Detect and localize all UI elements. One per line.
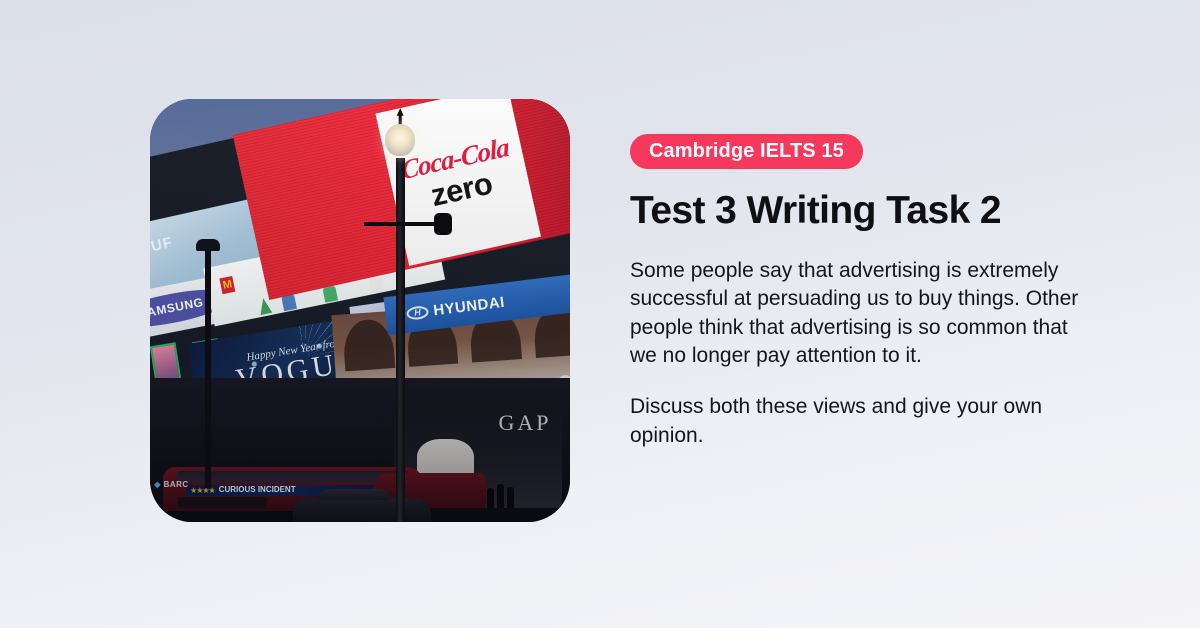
text-column: Cambridge IELTS 15 Test 3 Writing Task 2… bbox=[630, 134, 1100, 450]
mcdonalds-icon: M bbox=[219, 276, 235, 294]
street-lamp bbox=[396, 158, 405, 522]
gap-sign: GAP bbox=[499, 410, 552, 436]
bus-lower-window bbox=[178, 497, 267, 508]
samsung-label: SAMSUNG bbox=[150, 295, 204, 321]
street-pole bbox=[205, 251, 211, 488]
lamp-globe bbox=[385, 124, 415, 156]
bus-ad-stars: ★★★★ bbox=[190, 486, 215, 495]
barclays-sign: ◆ BARC bbox=[154, 480, 189, 489]
bus-ad-title: CURIOUS INCIDENT bbox=[219, 486, 296, 494]
task-prompt: Some people say that advertising is extr… bbox=[630, 257, 1090, 450]
prompt-paragraph-2: Discuss both these views and give your o… bbox=[630, 393, 1090, 450]
piccadilly-circus-photo: HUF SAMSUNG M Coca-Co bbox=[150, 99, 570, 522]
street-level: GAP 75 ★★★★ CURIOUS INCIDENT bbox=[150, 378, 570, 522]
status-badge: Cambridge IELTS 15 bbox=[630, 134, 863, 169]
snow-billboard-wordmark: HUF bbox=[150, 234, 175, 258]
bus-upper-window bbox=[176, 471, 410, 482]
lamp-cross-arm bbox=[364, 222, 438, 226]
writing-task-card: HUF SAMSUNG M Coca-Co bbox=[0, 0, 1200, 628]
prompt-paragraph-1: Some people say that advertising is extr… bbox=[630, 257, 1090, 370]
hyundai-logo-icon: H bbox=[406, 305, 429, 321]
hyundai-banner-label: HYUNDAI bbox=[433, 293, 506, 319]
black-taxi bbox=[293, 498, 432, 522]
task-photo: HUF SAMSUNG M Coca-Co bbox=[150, 99, 570, 522]
page-title: Test 3 Writing Task 2 bbox=[630, 191, 1100, 232]
